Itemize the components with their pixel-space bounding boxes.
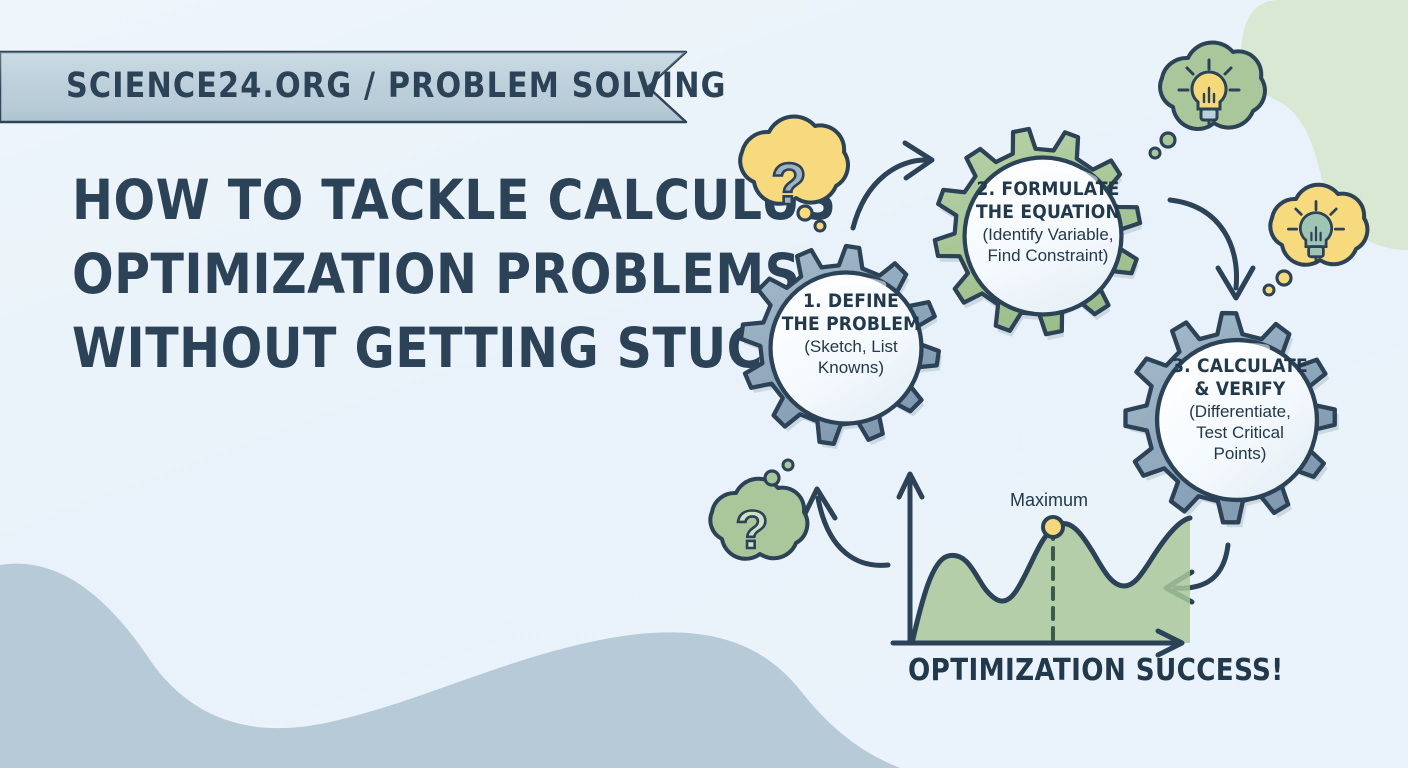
gear-step-3-calculate-verify[interactable] — [1112, 299, 1353, 541]
maximum-point-marker — [1043, 517, 1063, 537]
gear-step-1-define-problem[interactable] — [741, 246, 942, 449]
arrow-step1-to-step2 — [853, 143, 932, 228]
idea-bubble-top — [1150, 42, 1265, 158]
question-bubble-top-left: ? — [740, 117, 848, 231]
infographic-canvas: SCIENCE24.ORG / PROBLEM SOLVING HOW TO T… — [0, 0, 1408, 768]
gear-step-2-formulate-equation[interactable] — [914, 110, 1162, 360]
idea-bubble-right — [1264, 185, 1367, 295]
question-mark-glyph: ? — [736, 500, 769, 560]
arrow-chart-to-step1 — [802, 489, 888, 565]
chart-caption: OPTIMIZATION SUCCESS! — [908, 653, 1284, 688]
question-bubble-bottom-left: ? — [710, 460, 807, 560]
maximum-annotation: Maximum — [1010, 490, 1088, 511]
arrow-step2-to-step3 — [1170, 200, 1253, 298]
